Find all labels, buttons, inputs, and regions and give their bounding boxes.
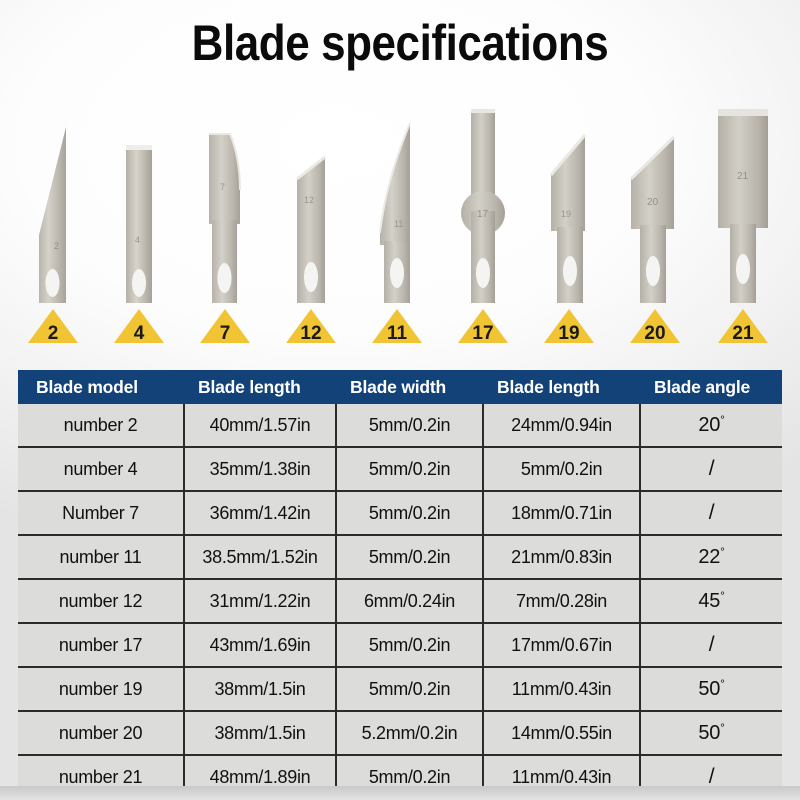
blade-illustration-11: 11	[366, 121, 428, 303]
cell-width: 5mm/0.2in	[336, 623, 483, 667]
cell-model: number 11	[18, 535, 184, 579]
blade-item: 7 7	[182, 86, 268, 351]
cell-model: number 20	[18, 711, 184, 755]
cell-model: number 17	[18, 623, 184, 667]
cell-angle: 50°	[640, 711, 782, 755]
cell-model: Number 7	[18, 491, 184, 535]
blade-badge-label: 7	[198, 324, 252, 343]
cell-angle: 20°	[640, 404, 782, 447]
table-row: Number 7 36mm/1.42in 5mm/0.2in 18mm/0.71…	[18, 491, 782, 535]
blade-badge-label: 17	[456, 324, 510, 343]
cell-width: 5mm/0.2in	[336, 404, 483, 447]
blade-badge-12: 12	[284, 307, 338, 345]
cell-angle: 45°	[640, 579, 782, 623]
table-header-row: Blade model Blade length Blade width Bla…	[18, 370, 782, 404]
blade-specifications-page: Blade specifications 2	[0, 0, 800, 800]
cell-length-2: 18mm/0.71in	[483, 491, 640, 535]
cell-length-2: 11mm/0.43in	[483, 667, 640, 711]
cell-model: number 4	[18, 447, 184, 491]
blade-badge-label: 11	[370, 324, 424, 343]
blade-badge-21: 21	[716, 307, 770, 345]
svg-text:12: 12	[304, 195, 314, 205]
blade-illustration-17: 17	[452, 107, 514, 303]
blade-badge-label: 20	[628, 324, 682, 343]
blade-gallery: 2 2	[0, 86, 800, 351]
svg-text:19: 19	[561, 209, 571, 219]
column-header-blade-width: Blade width	[336, 370, 483, 404]
specifications-table: Blade model Blade length Blade width Bla…	[18, 370, 782, 798]
blade-badge-4: 4	[112, 307, 166, 345]
cell-angle: /	[640, 623, 782, 667]
cell-length-2: 17mm/0.67in	[483, 623, 640, 667]
cell-length-1: 36mm/1.42in	[184, 491, 336, 535]
blade-badge-label: 2	[26, 324, 80, 343]
blade-item: 4 4	[96, 86, 182, 351]
cell-width: 5.2mm/0.2in	[336, 711, 483, 755]
blade-item: 17 17	[440, 86, 526, 351]
cell-width: 6mm/0.24in	[336, 579, 483, 623]
blade-badge-label: 12	[284, 324, 338, 343]
table-body: number 2 40mm/1.57in 5mm/0.2in 24mm/0.94…	[18, 404, 782, 798]
cell-width: 5mm/0.2in	[336, 491, 483, 535]
cell-length-2: 7mm/0.28in	[483, 579, 640, 623]
blade-badge-label: 21	[716, 324, 770, 343]
svg-text:2: 2	[54, 241, 59, 251]
blade-item: 2 2	[10, 86, 96, 351]
blade-illustration-21: 21	[708, 107, 778, 303]
blade-badge-19: 19	[542, 307, 596, 345]
cell-angle: 50°	[640, 667, 782, 711]
svg-text:21: 21	[737, 171, 749, 182]
cell-length-2: 24mm/0.94in	[483, 404, 640, 447]
blade-badge-label: 4	[112, 324, 166, 343]
cell-length-1: 31mm/1.22in	[184, 579, 336, 623]
svg-text:11: 11	[394, 219, 403, 229]
blade-illustration-20: 20	[620, 133, 690, 303]
cell-length-2: 5mm/0.2in	[483, 447, 640, 491]
svg-text:7: 7	[220, 182, 225, 192]
svg-text:17: 17	[477, 209, 489, 220]
cell-angle: 22°	[640, 535, 782, 579]
blade-illustration-12: 12	[281, 153, 341, 303]
blade-illustration-2: 2	[23, 125, 83, 303]
column-header-blade-angle: Blade angle	[640, 370, 782, 404]
cell-angle: /	[640, 491, 782, 535]
cell-width: 5mm/0.2in	[336, 667, 483, 711]
column-header-blade-length-1: Blade length	[184, 370, 336, 404]
table-row: number 4 35mm/1.38in 5mm/0.2in 5mm/0.2in…	[18, 447, 782, 491]
cell-length-1: 40mm/1.57in	[184, 404, 336, 447]
specifications-table-container: Blade model Blade length Blade width Bla…	[18, 370, 782, 798]
blade-item: 19 19	[526, 86, 612, 351]
cell-length-1: 38.5mm/1.52in	[184, 535, 336, 579]
cell-length-1: 38mm/1.5in	[184, 667, 336, 711]
cell-model: number 19	[18, 667, 184, 711]
blade-badge-20: 20	[628, 307, 682, 345]
blade-illustration-4: 4	[109, 143, 169, 303]
table-row: number 12 31mm/1.22in 6mm/0.24in 7mm/0.2…	[18, 579, 782, 623]
blade-item: 11 11	[354, 86, 440, 351]
column-header-blade-length-2: Blade length	[483, 370, 640, 404]
blade-badge-17: 17	[456, 307, 510, 345]
cell-angle: /	[640, 447, 782, 491]
bottom-edge-shadow	[0, 786, 800, 800]
blade-badge-7: 7	[198, 307, 252, 345]
table-row: number 11 38.5mm/1.52in 5mm/0.2in 21mm/0…	[18, 535, 782, 579]
blade-badge-11: 11	[370, 307, 424, 345]
blade-badge-2: 2	[26, 307, 80, 345]
cell-length-1: 38mm/1.5in	[184, 711, 336, 755]
cell-width: 5mm/0.2in	[336, 535, 483, 579]
cell-length-2: 21mm/0.83in	[483, 535, 640, 579]
cell-width: 5mm/0.2in	[336, 447, 483, 491]
svg-text:4: 4	[135, 235, 140, 245]
column-header-blade-model: Blade model	[18, 370, 184, 404]
table-header: Blade model Blade length Blade width Bla…	[18, 370, 782, 404]
table-row: number 19 38mm/1.5in 5mm/0.2in 11mm/0.43…	[18, 667, 782, 711]
table-row: number 2 40mm/1.57in 5mm/0.2in 24mm/0.94…	[18, 404, 782, 447]
cell-length-1: 43mm/1.69in	[184, 623, 336, 667]
blade-item: 21 21	[700, 86, 786, 351]
cell-length-2: 14mm/0.55in	[483, 711, 640, 755]
cell-length-1: 35mm/1.38in	[184, 447, 336, 491]
cell-model: number 2	[18, 404, 184, 447]
blade-illustration-19: 19	[537, 131, 601, 303]
blade-item: 12 12	[268, 86, 354, 351]
svg-text:20: 20	[647, 197, 659, 208]
page-title: Blade specifications	[48, 14, 752, 72]
blade-badge-label: 19	[542, 324, 596, 343]
table-row: number 20 38mm/1.5in 5.2mm/0.2in 14mm/0.…	[18, 711, 782, 755]
blade-illustration-7: 7	[194, 128, 256, 303]
cell-model: number 12	[18, 579, 184, 623]
table-row: number 17 43mm/1.69in 5mm/0.2in 17mm/0.6…	[18, 623, 782, 667]
blade-item: 20 20	[612, 86, 698, 351]
